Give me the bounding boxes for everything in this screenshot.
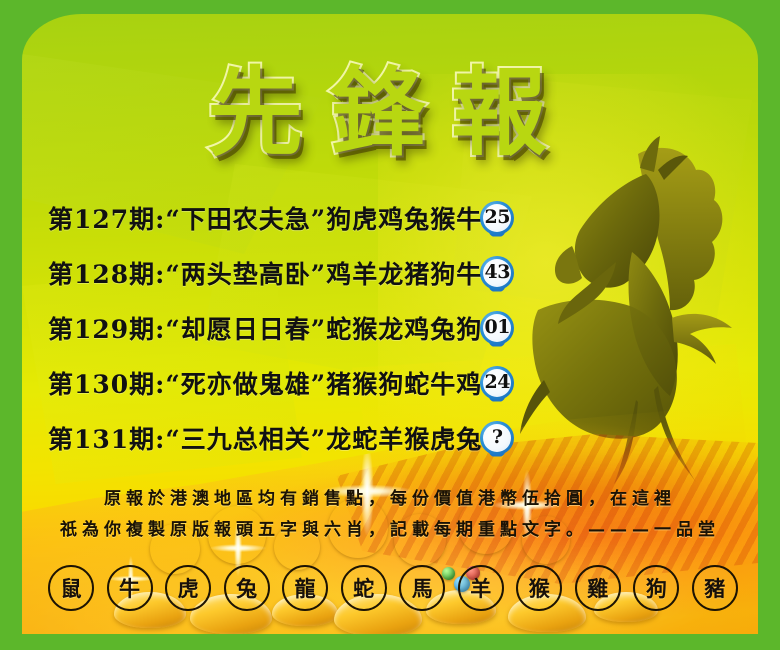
zodiac-goat: 羊	[458, 565, 504, 611]
issue-quote: “死亦做鬼雄”	[165, 365, 326, 401]
zodiac-label: 龍	[295, 573, 316, 603]
ball-number: 25	[484, 208, 509, 227]
zodiac-strip: 鼠 牛 虎 兔 龍 蛇 馬 羊 猴 雞 狗 豬	[48, 562, 738, 614]
masthead: 先鋒報	[22, 62, 758, 166]
footer-note-line: 原報於港澳地區均有銷售點，每份價值港幣伍拾圓，在這裡	[22, 484, 758, 515]
issue-number: 第129期:	[48, 310, 165, 346]
list-item: 第130期: “死亦做鬼雄” 猪猴狗蛇牛鸡 24	[22, 355, 758, 410]
lottery-ball: 43	[480, 256, 514, 290]
ball-inner: 24	[483, 369, 511, 397]
footer-notes: 原報於港澳地區均有銷售點，每份價值港幣伍拾圓，在這裡 祇為你複製原版報頭五字與六…	[22, 484, 758, 546]
ball-number: ?	[492, 428, 503, 447]
bottom-border-band	[0, 634, 780, 650]
issue-quote: “却愿日日春”	[165, 310, 326, 346]
zodiac-ox: 牛	[107, 565, 153, 611]
zodiac-rabbit: 兔	[224, 565, 270, 611]
zodiac-label: 虎	[178, 573, 199, 603]
zodiac-pig: 豬	[692, 565, 738, 611]
issue-quote: “下田农夫急”	[165, 200, 326, 236]
issue-zodiacs: 龙蛇羊猴虎兔	[326, 420, 482, 456]
ball-number: 43	[484, 263, 509, 282]
issue-zodiacs: 狗虎鸡兔猴牛	[326, 200, 482, 236]
zodiac-rat: 鼠	[48, 565, 94, 611]
zodiac-label: 牛	[119, 573, 140, 603]
list-item: 第129期: “却愿日日春” 蛇猴龙鸡兔狗 01	[22, 300, 758, 355]
list-item: 第127期: “下田农夫急” 狗虎鸡兔猴牛 25	[22, 190, 758, 245]
zodiac-label: 蛇	[353, 573, 374, 603]
zodiac-label: 狗	[646, 573, 667, 603]
issue-number: 第131期:	[48, 420, 165, 456]
ball-inner: 43	[483, 259, 511, 287]
list-item: 第128期: “两头垫高卧” 鸡羊龙猪狗牛 43	[22, 245, 758, 300]
ball-number: 01	[484, 318, 509, 337]
ball-inner: 25	[483, 204, 511, 232]
ball-inner: ?	[483, 424, 511, 452]
zodiac-label: 馬	[412, 573, 433, 603]
poster-canvas: 先鋒報 第127期: “下田农夫急” 狗虎鸡兔猴牛 25 第128期: “两头垫…	[0, 0, 780, 650]
zodiac-tiger: 虎	[165, 565, 211, 611]
list-item: 第131期: “三九总相关” 龙蛇羊猴虎兔 ?	[22, 410, 758, 465]
issue-number: 第127期:	[48, 200, 165, 236]
issue-number: 第130期:	[48, 365, 165, 401]
lottery-ball: 24	[480, 366, 514, 400]
zodiac-label: 猴	[529, 573, 550, 603]
zodiac-monkey: 猴	[516, 565, 562, 611]
zodiac-horse: 馬	[399, 565, 445, 611]
issue-number: 第128期:	[48, 255, 165, 291]
zodiac-snake: 蛇	[341, 565, 387, 611]
ball-number: 24	[484, 373, 509, 392]
issue-quote: “三九总相关”	[165, 420, 326, 456]
issue-zodiacs: 鸡羊龙猪狗牛	[326, 255, 482, 291]
issue-list: 第127期: “下田农夫急” 狗虎鸡兔猴牛 25 第128期: “两头垫高卧” …	[22, 190, 758, 465]
issue-zodiacs: 猪猴狗蛇牛鸡	[326, 365, 482, 401]
zodiac-label: 羊	[470, 573, 491, 603]
zodiac-dog: 狗	[633, 565, 679, 611]
page-title: 先鋒報	[207, 62, 573, 166]
issue-quote: “两头垫高卧”	[165, 255, 326, 291]
footer-note-line: 祇為你複製原版報頭五字與六肖，記載每期重點文字。———一品堂	[22, 515, 758, 546]
lottery-ball: 25	[480, 201, 514, 235]
issue-zodiacs: 蛇猴龙鸡兔狗	[326, 310, 482, 346]
zodiac-label: 兔	[236, 573, 257, 603]
lottery-ball: ?	[480, 421, 514, 455]
ball-inner: 01	[483, 314, 511, 342]
zodiac-rooster: 雞	[575, 565, 621, 611]
zodiac-label: 鼠	[61, 573, 82, 603]
poster-panel: 先鋒報 第127期: “下田农夫急” 狗虎鸡兔猴牛 25 第128期: “两头垫…	[22, 14, 758, 636]
lottery-ball: 01	[480, 311, 514, 345]
zodiac-label: 雞	[587, 573, 608, 603]
zodiac-dragon: 龍	[282, 565, 328, 611]
zodiac-label: 豬	[704, 573, 725, 603]
